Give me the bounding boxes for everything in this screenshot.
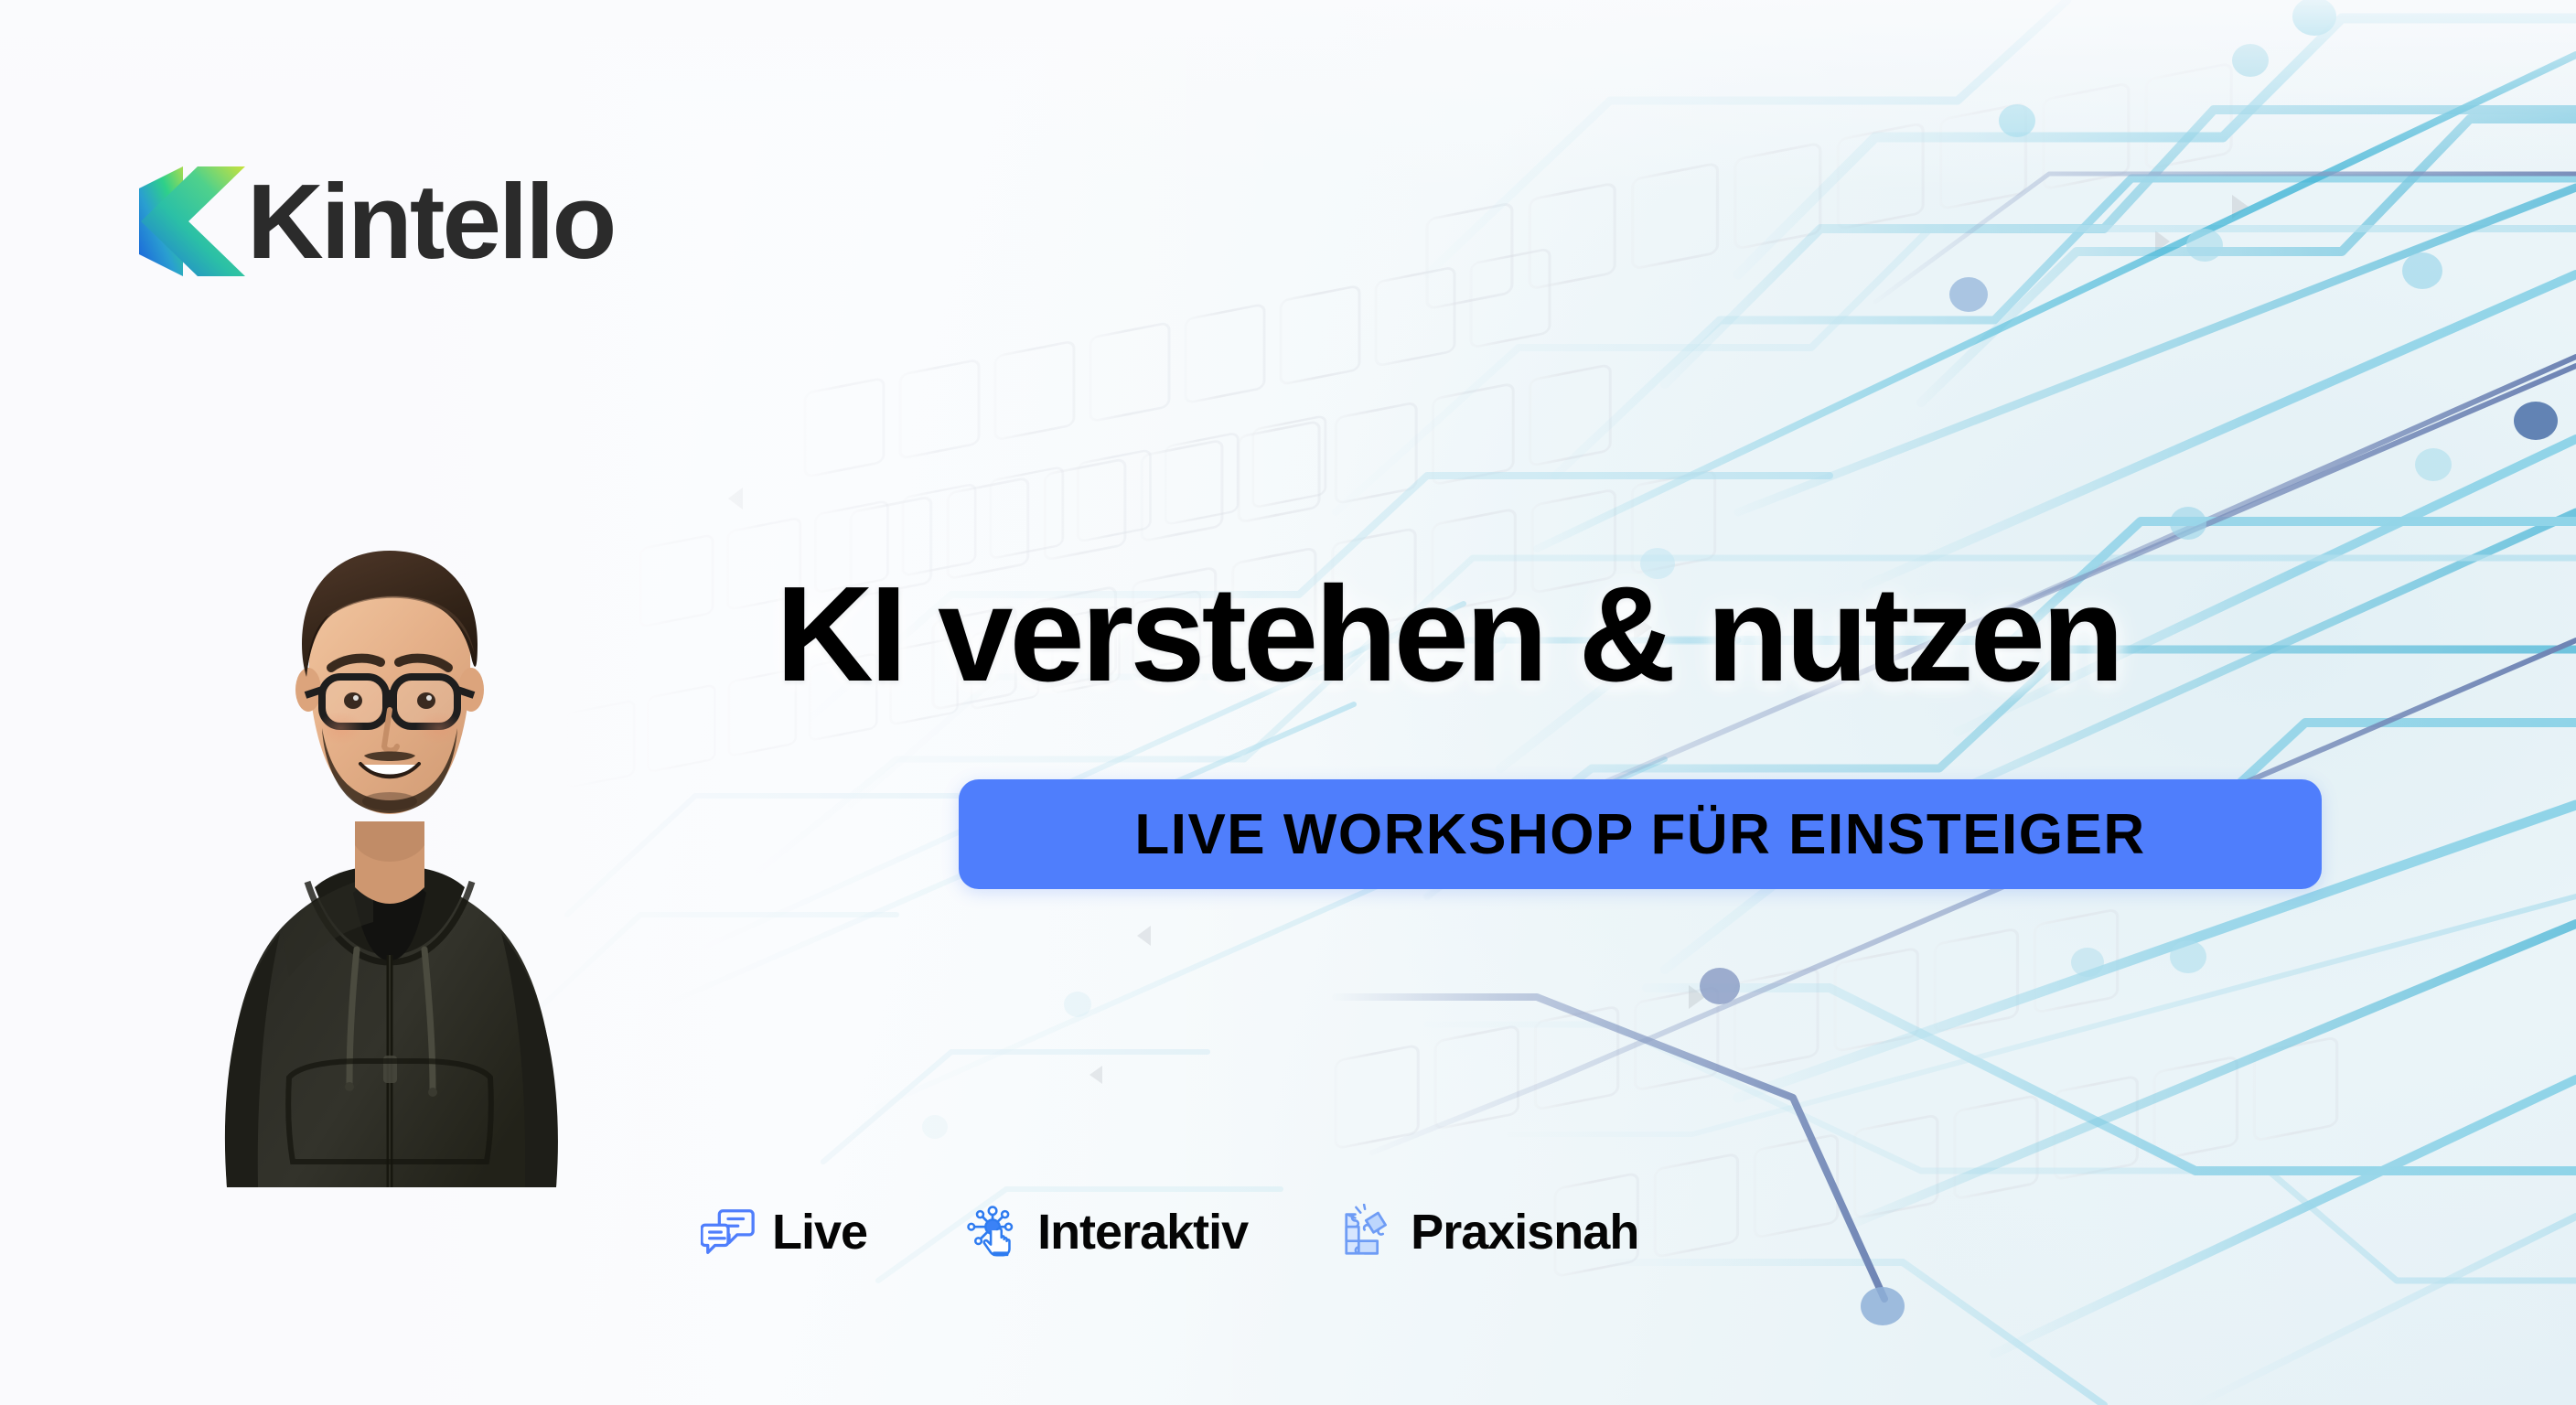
feature-item-praxisnah: Praxisnah bbox=[1339, 1204, 1638, 1260]
feature-item-live: Live bbox=[701, 1204, 867, 1260]
feature-label-interaktiv: Interaktiv bbox=[1037, 1204, 1248, 1260]
badge-label: LIVE WORKSHOP FÜR EINSTEIGER bbox=[1134, 802, 2145, 867]
chat-bubbles-icon bbox=[701, 1204, 757, 1260]
workshop-promo-banner: Kintello bbox=[0, 0, 2576, 1405]
feature-label-praxisnah: Praxisnah bbox=[1411, 1204, 1638, 1260]
puzzle-pieces-icon bbox=[1339, 1204, 1396, 1260]
feature-label-live: Live bbox=[772, 1204, 867, 1260]
presenter-photo bbox=[119, 437, 659, 1187]
presenter-illustration bbox=[119, 437, 659, 1187]
feature-list: Live Interaktiv bbox=[701, 1204, 1638, 1260]
page-title: KI verstehen & nutzen bbox=[776, 567, 2120, 702]
kintello-logo[interactable]: Kintello bbox=[139, 163, 614, 280]
kintello-k-chevron-logo bbox=[139, 163, 249, 280]
status-badge: LIVE WORKSHOP FÜR EINSTEIGER bbox=[959, 779, 2322, 889]
logo-wordmark: Kintello bbox=[247, 168, 614, 274]
feature-item-interaktiv: Interaktiv bbox=[966, 1204, 1248, 1260]
network-touch-icon bbox=[966, 1204, 1023, 1260]
